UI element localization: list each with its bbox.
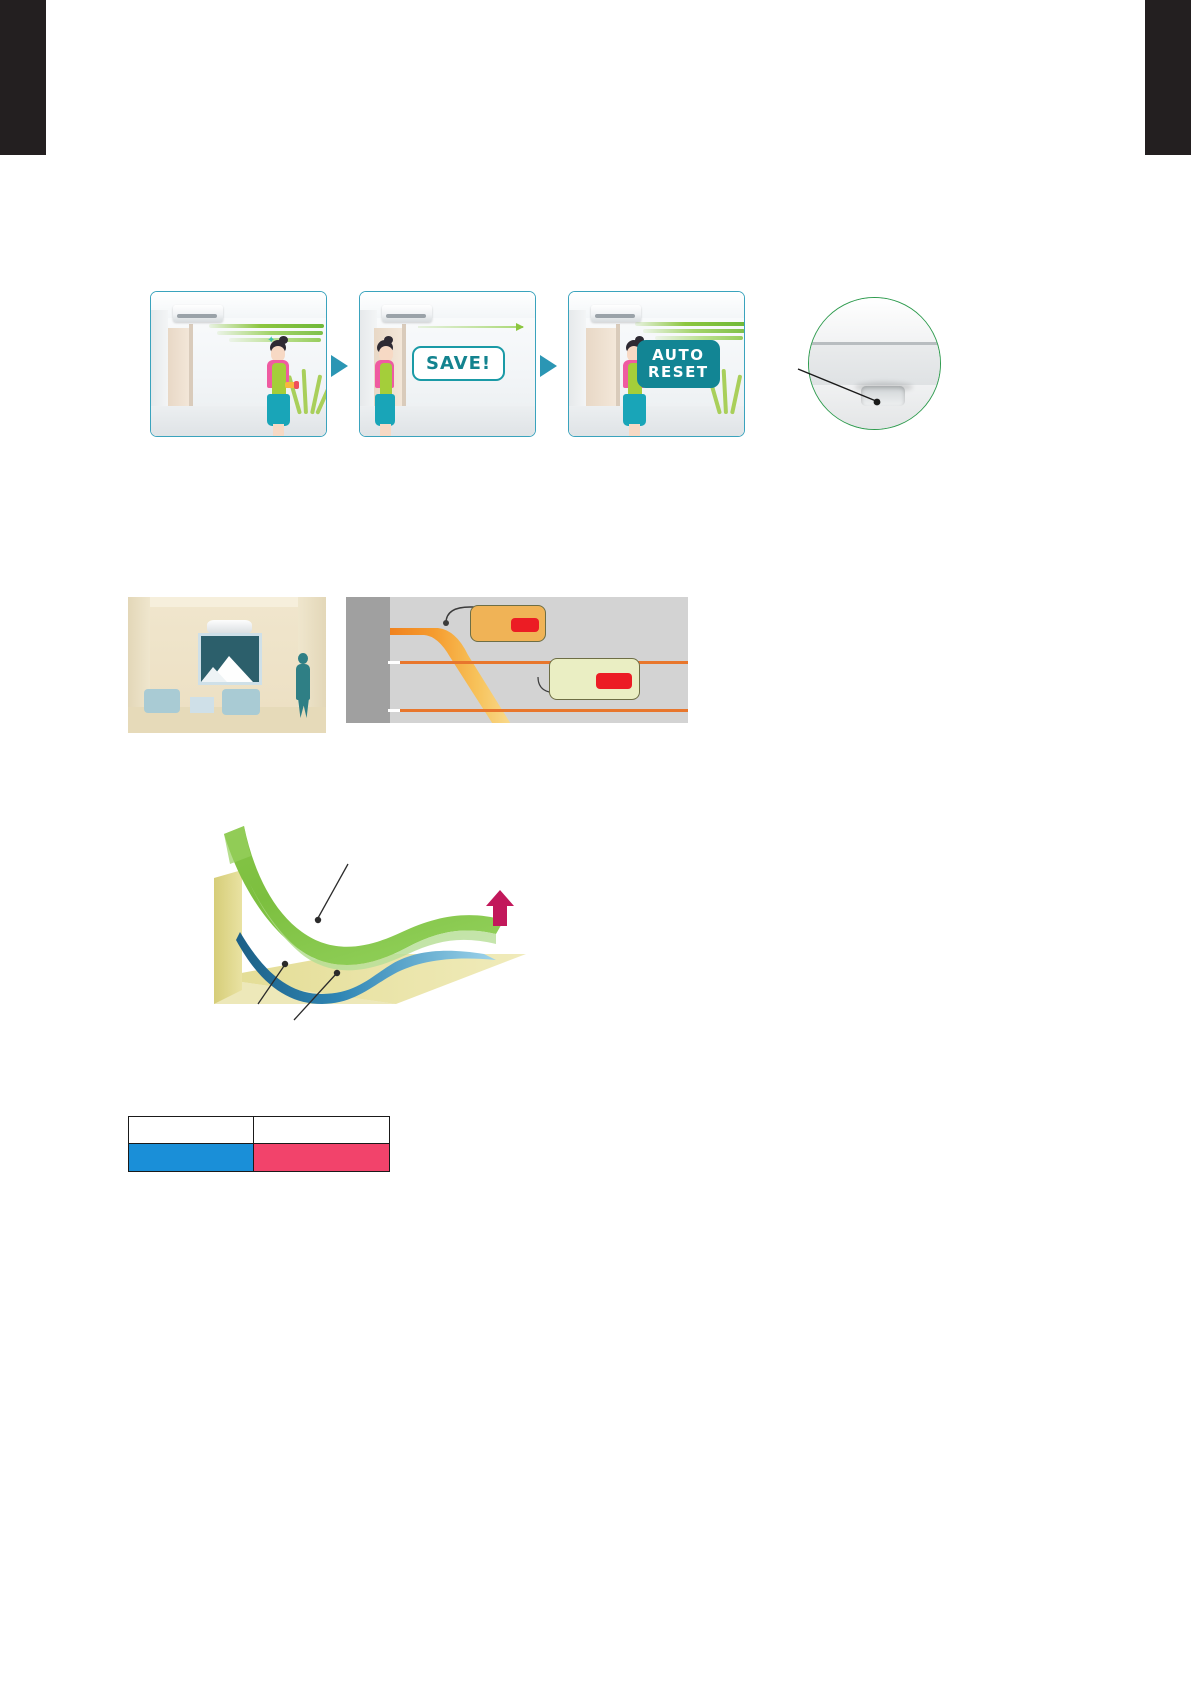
wall-picture-frame [198, 633, 262, 685]
airflow-surface-diagram [196, 808, 526, 1023]
table-cell-color-blue [129, 1144, 254, 1171]
chart-tick-upper [388, 661, 400, 664]
page-corner-block-right [1145, 0, 1191, 155]
callout-upper-swatch [511, 618, 539, 632]
remote-control-tip-icon [294, 381, 299, 389]
unit-top-surface [809, 298, 940, 342]
airflow-band-2 [643, 329, 745, 333]
airflow-temperature-timeline [346, 597, 688, 723]
table-cell-header-right [254, 1117, 389, 1143]
airflow-arrowhead-icon [516, 323, 524, 331]
chart-baseline-lower [390, 709, 688, 712]
air-conditioner-icon [382, 305, 432, 322]
auto-reset-badge-line-1: AUTO [652, 346, 704, 364]
wall-picture-image [201, 636, 259, 682]
table-cell-color-pink [254, 1144, 389, 1171]
mountain-shape-2 [201, 667, 227, 682]
table-cell-header-left [129, 1117, 254, 1143]
airflow-band-1 [635, 322, 745, 326]
green-airflow-surface [224, 826, 504, 970]
save-badge: SAVE! [412, 346, 505, 381]
page-corner-block-left [0, 0, 46, 155]
auto-reset-badge-line-2: RESET [648, 363, 709, 381]
chart-tick-lower [388, 709, 400, 712]
airflow-thin-line-icon [418, 326, 523, 328]
sofa-left [144, 689, 180, 713]
table-row [129, 1144, 389, 1171]
sequence-panel-1: ✦ [150, 291, 327, 437]
callout-upper-pointer-dot [443, 620, 449, 626]
sequence-arrow-1-icon [331, 355, 348, 377]
color-legend-table [128, 1116, 390, 1172]
callout-lower-swatch [596, 673, 632, 689]
airflow-band-1 [209, 324, 324, 328]
living-room-illustration [128, 597, 326, 733]
sofa-right [222, 689, 260, 715]
sequence-panel-3: AUTO RESET [568, 291, 745, 437]
coffee-table [190, 697, 214, 713]
table-row [129, 1117, 389, 1144]
person-figure [296, 653, 310, 717]
person-figure-leaving [374, 336, 398, 436]
chart-baseline-upper [390, 661, 688, 664]
sequence-arrow-2-icon [540, 355, 557, 377]
ac-vent-icon [386, 314, 426, 318]
callout-lower [549, 658, 640, 700]
sequence-panel-2: SAVE! [359, 291, 536, 437]
person-figure: ✦ [261, 336, 295, 436]
auto-reset-badge: AUTO RESET [637, 340, 720, 388]
plant-icon [294, 368, 320, 414]
ac-unit-button-closeup [808, 297, 941, 430]
air-conditioner-icon [207, 620, 252, 634]
leader-upper [318, 864, 348, 918]
auto-reset-sequence: ✦ SAVE! [150, 291, 750, 435]
callout-upper [470, 605, 546, 642]
room-ceiling [128, 597, 326, 607]
leader-line [798, 357, 928, 427]
